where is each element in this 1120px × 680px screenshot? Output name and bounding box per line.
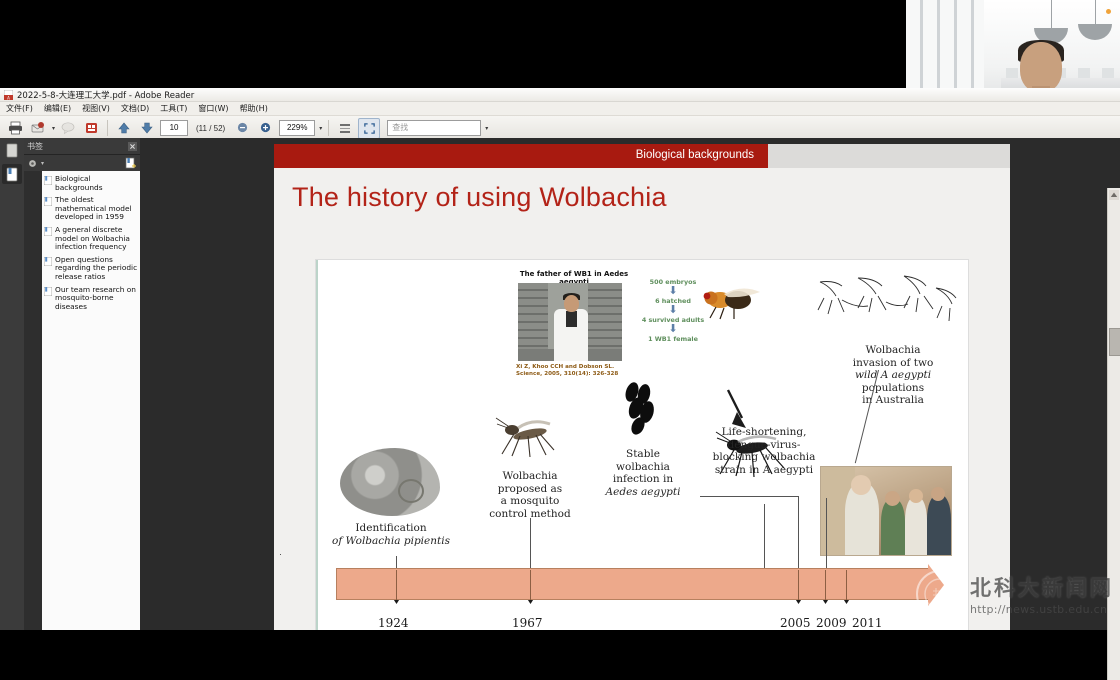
menu-document[interactable]: 文档(D): [121, 103, 149, 114]
new-bookmark-icon[interactable]: [125, 157, 137, 169]
seal-stamp-icon: [916, 570, 964, 618]
caption-identification: Identification of Wolbachia pipientis: [326, 522, 456, 547]
options-dropdown-caret[interactable]: ▾: [41, 160, 44, 167]
caption-line: wolbachia: [590, 461, 696, 474]
caption-line: dengue-virus-: [696, 439, 832, 452]
page-thumbnails-icon: [5, 143, 19, 158]
printer-icon: [8, 121, 23, 135]
email-dropdown-caret[interactable]: ▾: [52, 125, 55, 132]
zoom-dropdown-caret[interactable]: ▾: [319, 125, 322, 132]
australia-release-photo: [820, 466, 952, 556]
bookmark-icon: [44, 287, 52, 296]
email-button[interactable]: [28, 119, 48, 138]
caption-line: infection in: [590, 473, 696, 486]
person-2-head: [885, 491, 900, 506]
lamp-cord: [1095, 0, 1096, 24]
wolbachia-micrograph: [340, 448, 440, 516]
email-attach-icon: [31, 121, 46, 135]
comment-cloud-icon: [61, 121, 76, 135]
person-3-head: [909, 489, 923, 503]
caption-line: Stable: [590, 448, 696, 461]
inner-shirt: [566, 311, 577, 327]
arrow-down-icon: [140, 121, 154, 135]
zoom-level-input[interactable]: 229%: [279, 120, 315, 136]
sequence-arrow-icon: ⬇: [636, 324, 710, 335]
bookmarks-panel-header: 书签: [24, 138, 140, 155]
slide-section-label: Biological backgrounds: [636, 149, 754, 161]
screen: 庾建设 A 2022-5-8-大连理工大学.pdf - Adobe Reader…: [0, 0, 1120, 630]
bookmarks-toolbar: ▾: [24, 155, 140, 171]
caption-line: Wolbachia: [478, 470, 582, 483]
bookmark-label: Open questions regarding the periodic re…: [55, 256, 138, 282]
scrollbar-thumb[interactable]: [1109, 328, 1120, 356]
menu-view[interactable]: 视图(V): [82, 103, 110, 114]
timeline-tick: [825, 570, 826, 600]
watermark-title: 北科大新闻网: [970, 572, 1114, 602]
rail-pages-panel[interactable]: [2, 140, 22, 160]
print-button[interactable]: [5, 119, 25, 138]
bookmark-icon: [44, 176, 52, 185]
sign-stamp-icon: [84, 121, 99, 135]
timeline-tick: [396, 570, 397, 600]
slide-section-bar: Biological backgrounds: [274, 144, 768, 168]
timeline-tick: [530, 570, 531, 600]
watermark-text: 北科大新闻网 http://news.ustb.edu.cn: [970, 572, 1114, 616]
adobe-reader-window: A 2022-5-8-大连理工大学.pdf - Adobe Reader 文件(…: [0, 88, 1120, 630]
bookmark-label: Our team research on mosquito-borne dise…: [55, 286, 138, 312]
leader-line: [280, 554, 281, 555]
zoom-out-button[interactable]: [233, 119, 253, 138]
timeline-tick: [846, 570, 847, 600]
status-dot: [1106, 9, 1111, 14]
navigation-rail: [0, 138, 24, 630]
fit-page-button[interactable]: [358, 118, 380, 139]
menu-window[interactable]: 窗口(W): [198, 103, 228, 114]
bookmark-label: Biological backgrounds: [55, 175, 138, 192]
bookmark-icon: [44, 197, 52, 206]
pdf-document-icon: A: [4, 90, 13, 100]
mosquito-eggs-photo: [618, 380, 672, 436]
bookmark-item[interactable]: A general discrete model on Wolbachia in…: [44, 226, 138, 252]
pdf-page: Biological backgrounds The history of us…: [274, 144, 1010, 630]
fit-width-icon: [338, 121, 352, 135]
toolbar-separator: [107, 120, 108, 136]
person-3: [905, 497, 927, 555]
bookmark-item[interactable]: Our team research on mosquito-borne dise…: [44, 286, 138, 312]
mosquito-line-drawings: [808, 272, 960, 334]
caption-line: of Wolbachia pipientis: [326, 535, 456, 548]
bookmarks-list: Biological backgrounds The oldest mathem…: [42, 171, 140, 630]
face: [564, 295, 579, 312]
document-view[interactable]: Biological backgrounds The history of us…: [140, 138, 1120, 630]
rail-bookmarks-panel[interactable]: [2, 164, 22, 184]
person-1-head: [851, 475, 871, 495]
close-icon[interactable]: [128, 142, 137, 151]
bookmark-item[interactable]: Biological backgrounds: [44, 175, 138, 192]
toolbar-separator: [328, 120, 329, 136]
reader-body: 书签 ▾: [0, 138, 1120, 630]
arrow-up-icon: [117, 121, 131, 135]
watermark-url: http://news.ustb.edu.cn: [970, 603, 1107, 616]
zoom-in-icon: [259, 121, 273, 135]
person-4-head: [931, 487, 945, 501]
caption-life-shortening: Life-shortening, dengue-virus- blocking …: [696, 426, 832, 476]
mosquito-photo-1: [488, 412, 564, 460]
bookmark-icon: [44, 257, 52, 266]
bookmark-item[interactable]: Open questions regarding the periodic re…: [44, 256, 138, 282]
find-input[interactable]: 查找: [387, 120, 481, 136]
lamp-cord: [1051, 0, 1052, 28]
timeline-tick: [798, 570, 799, 600]
zoom-out-icon: [236, 121, 250, 135]
fit-width-button[interactable]: [335, 119, 355, 138]
caption-line: invasion of two: [834, 357, 952, 370]
history-figure: The father of WB1 in Aedes aegypti Xi Z,…: [316, 260, 968, 630]
menu-edit[interactable]: 编辑(E): [44, 103, 71, 114]
next-page-button[interactable]: [137, 119, 157, 138]
timeline-year: 2011: [852, 616, 883, 630]
timeline-year: 2005: [780, 616, 811, 630]
caption-line: Life-shortening,: [696, 426, 832, 439]
bookmark-icon: [44, 227, 52, 236]
leader-line: [700, 496, 798, 497]
timeline-year: 1967: [512, 616, 543, 630]
caption-australia-invasion: Wolbachia invasion of two wild A aegypti…: [834, 344, 952, 407]
scroll-up-icon[interactable]: [1109, 190, 1119, 200]
find-dropdown-caret[interactable]: ▾: [485, 125, 488, 132]
slide-section-bar-tail: [768, 144, 1010, 168]
caption-line: wild A aegypti: [834, 369, 952, 382]
menu-help[interactable]: 帮助(H): [240, 103, 268, 114]
caption-line: blocking wolbachia: [696, 451, 832, 464]
head: [1020, 42, 1062, 92]
svg-text:A: A: [7, 95, 10, 100]
page-number-input[interactable]: 10: [160, 120, 188, 136]
menu-bar: 文件(F) 编辑(E) 视图(V) 文档(D) 工具(T) 窗口(W) 帮助(H…: [0, 102, 1120, 116]
caption-line: Aedes aegypti: [590, 486, 696, 499]
bookmark-label: A general discrete model on Wolbachia in…: [55, 226, 138, 252]
bookmarks-panel-title: 书签: [27, 141, 43, 152]
bookmark-page-icon: [5, 167, 19, 182]
caption-line: strain in A aegypti: [696, 464, 832, 477]
caption-line: a mosquito: [478, 495, 582, 508]
fruit-fly-photo: [698, 282, 768, 320]
caption-proposed-control: Wolbachia proposed as a mosquito control…: [478, 470, 582, 520]
caption-stable-infection: Stable wolbachia infection in Aedes aegy…: [590, 448, 696, 498]
comment-button[interactable]: [58, 119, 78, 138]
person-4: [927, 495, 951, 555]
scientist-photo: [518, 283, 622, 361]
options-gear-icon[interactable]: [27, 158, 38, 169]
sign-button[interactable]: [81, 119, 101, 138]
zoom-in-button[interactable]: [256, 119, 276, 138]
caption-line: Identification: [326, 522, 456, 535]
sequence-step: 1 WB1 female: [636, 335, 710, 343]
bookmark-item[interactable]: The oldest mathematical model developed …: [44, 196, 138, 222]
slide-title: The history of using Wolbachia: [292, 182, 1010, 213]
page-count-label: (11 / 52): [196, 124, 225, 133]
menu-file[interactable]: 文件(F): [6, 103, 33, 114]
previous-page-button[interactable]: [114, 119, 134, 138]
caption-line: proposed as: [478, 483, 582, 496]
screen-share-letterbox: [0, 0, 906, 88]
caption-line: populations: [834, 382, 952, 395]
bookmarks-panel: 书签 ▾: [24, 138, 140, 630]
news-watermark: 北科大新闻网 http://news.ustb.edu.cn: [916, 570, 1114, 618]
fit-page-icon: [363, 122, 376, 135]
caption-line: in Australia: [834, 394, 952, 407]
title-bar: A 2022-5-8-大连理工大学.pdf - Adobe Reader: [0, 88, 1120, 102]
timeline-bar: [336, 568, 930, 600]
figure-citation: Xi Z, Khoo CCH and Dobson SL. Science, 2…: [516, 364, 628, 378]
timeline-year: 2009: [816, 616, 847, 630]
window-title: 2022-5-8-大连理工大学.pdf - Adobe Reader: [17, 89, 194, 101]
menu-tools[interactable]: 工具(T): [160, 103, 187, 114]
person-2: [881, 499, 905, 555]
timeline-year: 1924: [378, 616, 409, 630]
caption-line: Wolbachia: [834, 344, 952, 357]
bookmark-label: The oldest mathematical model developed …: [55, 196, 138, 222]
